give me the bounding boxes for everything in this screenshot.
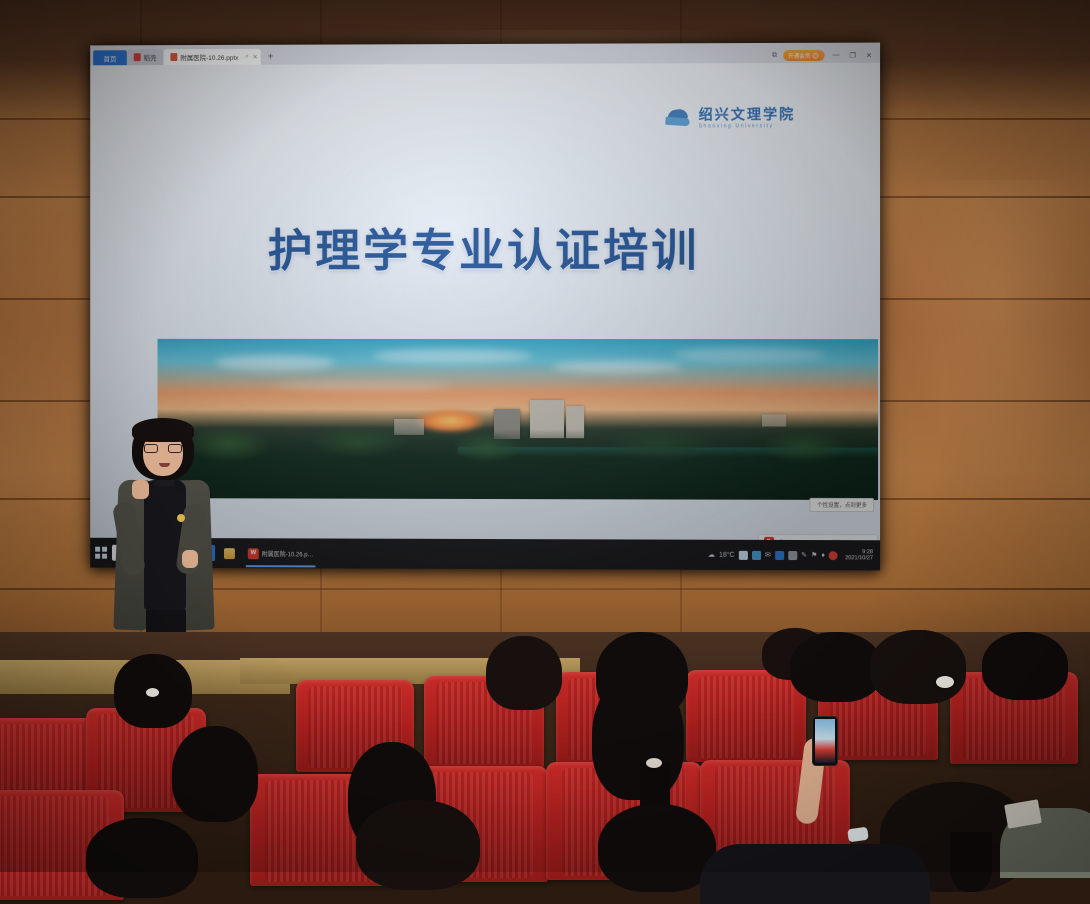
tab-home-label: 首页	[104, 53, 117, 63]
slide-title: 护理学专业认证培训	[90, 213, 880, 279]
tray-icon-9[interactable]	[829, 551, 838, 560]
audience-head	[790, 632, 882, 702]
smartphone	[812, 716, 838, 766]
presenter-hand-right	[182, 550, 198, 568]
audience-head	[356, 800, 480, 890]
wall-highlight	[900, 180, 1090, 480]
pdf-icon	[134, 53, 141, 61]
audience-head	[486, 636, 562, 710]
tab-pin-icon[interactable]: ⌕	[245, 53, 248, 60]
close-icon[interactable]: ✕	[253, 53, 258, 60]
minimize-button[interactable]: —	[830, 52, 841, 59]
tray-icon-6[interactable]: ✎	[801, 551, 807, 559]
audience-head	[870, 630, 966, 704]
university-logo: 绍兴文理学院 Shaoxing University	[665, 107, 795, 129]
lecture-hall-room: 首页 稻壳 附属医院-10.26.pptx ⌕ ✕ + ⧉	[0, 0, 1090, 872]
vip-label: 开通会员	[788, 51, 810, 59]
presenter-fringe	[132, 418, 194, 442]
weather-icon[interactable]: ☁	[708, 551, 715, 559]
wps-icon: W	[248, 548, 259, 559]
tray-icon-2[interactable]	[752, 550, 761, 559]
glasses-icon	[144, 444, 182, 453]
tab-docer-label: 稻壳	[144, 52, 157, 62]
logo-english-name: Shaoxing University	[699, 124, 796, 129]
tab-docer[interactable]: 稻壳	[127, 49, 164, 65]
window-controls: ⧉ 开通会员 — ❐ ✕	[772, 50, 880, 63]
tab-presentation[interactable]: 附属医院-10.26.pptx ⌕ ✕	[163, 49, 260, 65]
tray-icon-7[interactable]: ⚑	[811, 551, 817, 559]
taskbar-item-wps-label: 附属医院-10.26.p…	[262, 549, 314, 558]
wps-tab-bar: 首页 稻壳 附属医院-10.26.pptx ⌕ ✕ + ⧉	[90, 43, 880, 66]
university-mark-icon	[665, 108, 691, 128]
sync-icon[interactable]: ⧉	[772, 51, 777, 59]
avatar	[812, 52, 818, 58]
tray-icon-5[interactable]	[788, 551, 797, 560]
close-button[interactable]: ✕	[864, 51, 874, 59]
phone-screen	[815, 719, 835, 763]
weather-temperature: 18°C	[719, 551, 735, 558]
tray-icon-1[interactable]	[739, 550, 748, 559]
tab-presentation-label: 附属医院-10.26.pptx	[180, 52, 238, 62]
face-mask	[847, 827, 869, 843]
clock-date: 2021/10/27	[845, 555, 873, 561]
audience-head	[172, 726, 258, 822]
presenter-lapel-pin	[177, 514, 185, 522]
taskbar-clock[interactable]: 9:28 2021/10/27	[842, 549, 873, 562]
taskbar-item-wps[interactable]: W 附属医院-10.26.p…	[244, 543, 318, 563]
audience-head	[982, 632, 1068, 700]
hair-bow	[936, 676, 954, 688]
tab-home[interactable]: 首页	[93, 50, 127, 65]
new-tab-icon[interactable]: +	[261, 51, 281, 65]
tray-icon-4[interactable]	[775, 550, 784, 559]
tray-icon-3[interactable]: ✉	[765, 551, 771, 559]
audience-head	[592, 674, 684, 800]
campus-panorama-photo	[158, 339, 879, 500]
logo-chinese-name: 绍兴文理学院	[699, 107, 796, 121]
audience-head	[86, 818, 198, 898]
ppt-icon	[170, 53, 177, 61]
hair-bow	[146, 688, 159, 697]
ponytail	[950, 832, 992, 892]
vip-button[interactable]: 开通会员	[783, 50, 824, 61]
system-tray: ☁ 18°C ✉ ✎ ⚑ ♦ 9:28 2021/10/27	[708, 548, 875, 561]
presenter-hand-left	[132, 480, 149, 499]
audience-area	[0, 632, 1090, 872]
audience-head	[598, 804, 716, 892]
audience-shoulders	[700, 844, 930, 904]
seat	[686, 670, 806, 762]
ime-tooltip: 个性设置，点到更多	[810, 498, 874, 512]
hair-tie	[646, 758, 662, 768]
restore-button[interactable]: ❐	[848, 51, 858, 59]
tray-icon-8[interactable]: ♦	[821, 552, 825, 559]
